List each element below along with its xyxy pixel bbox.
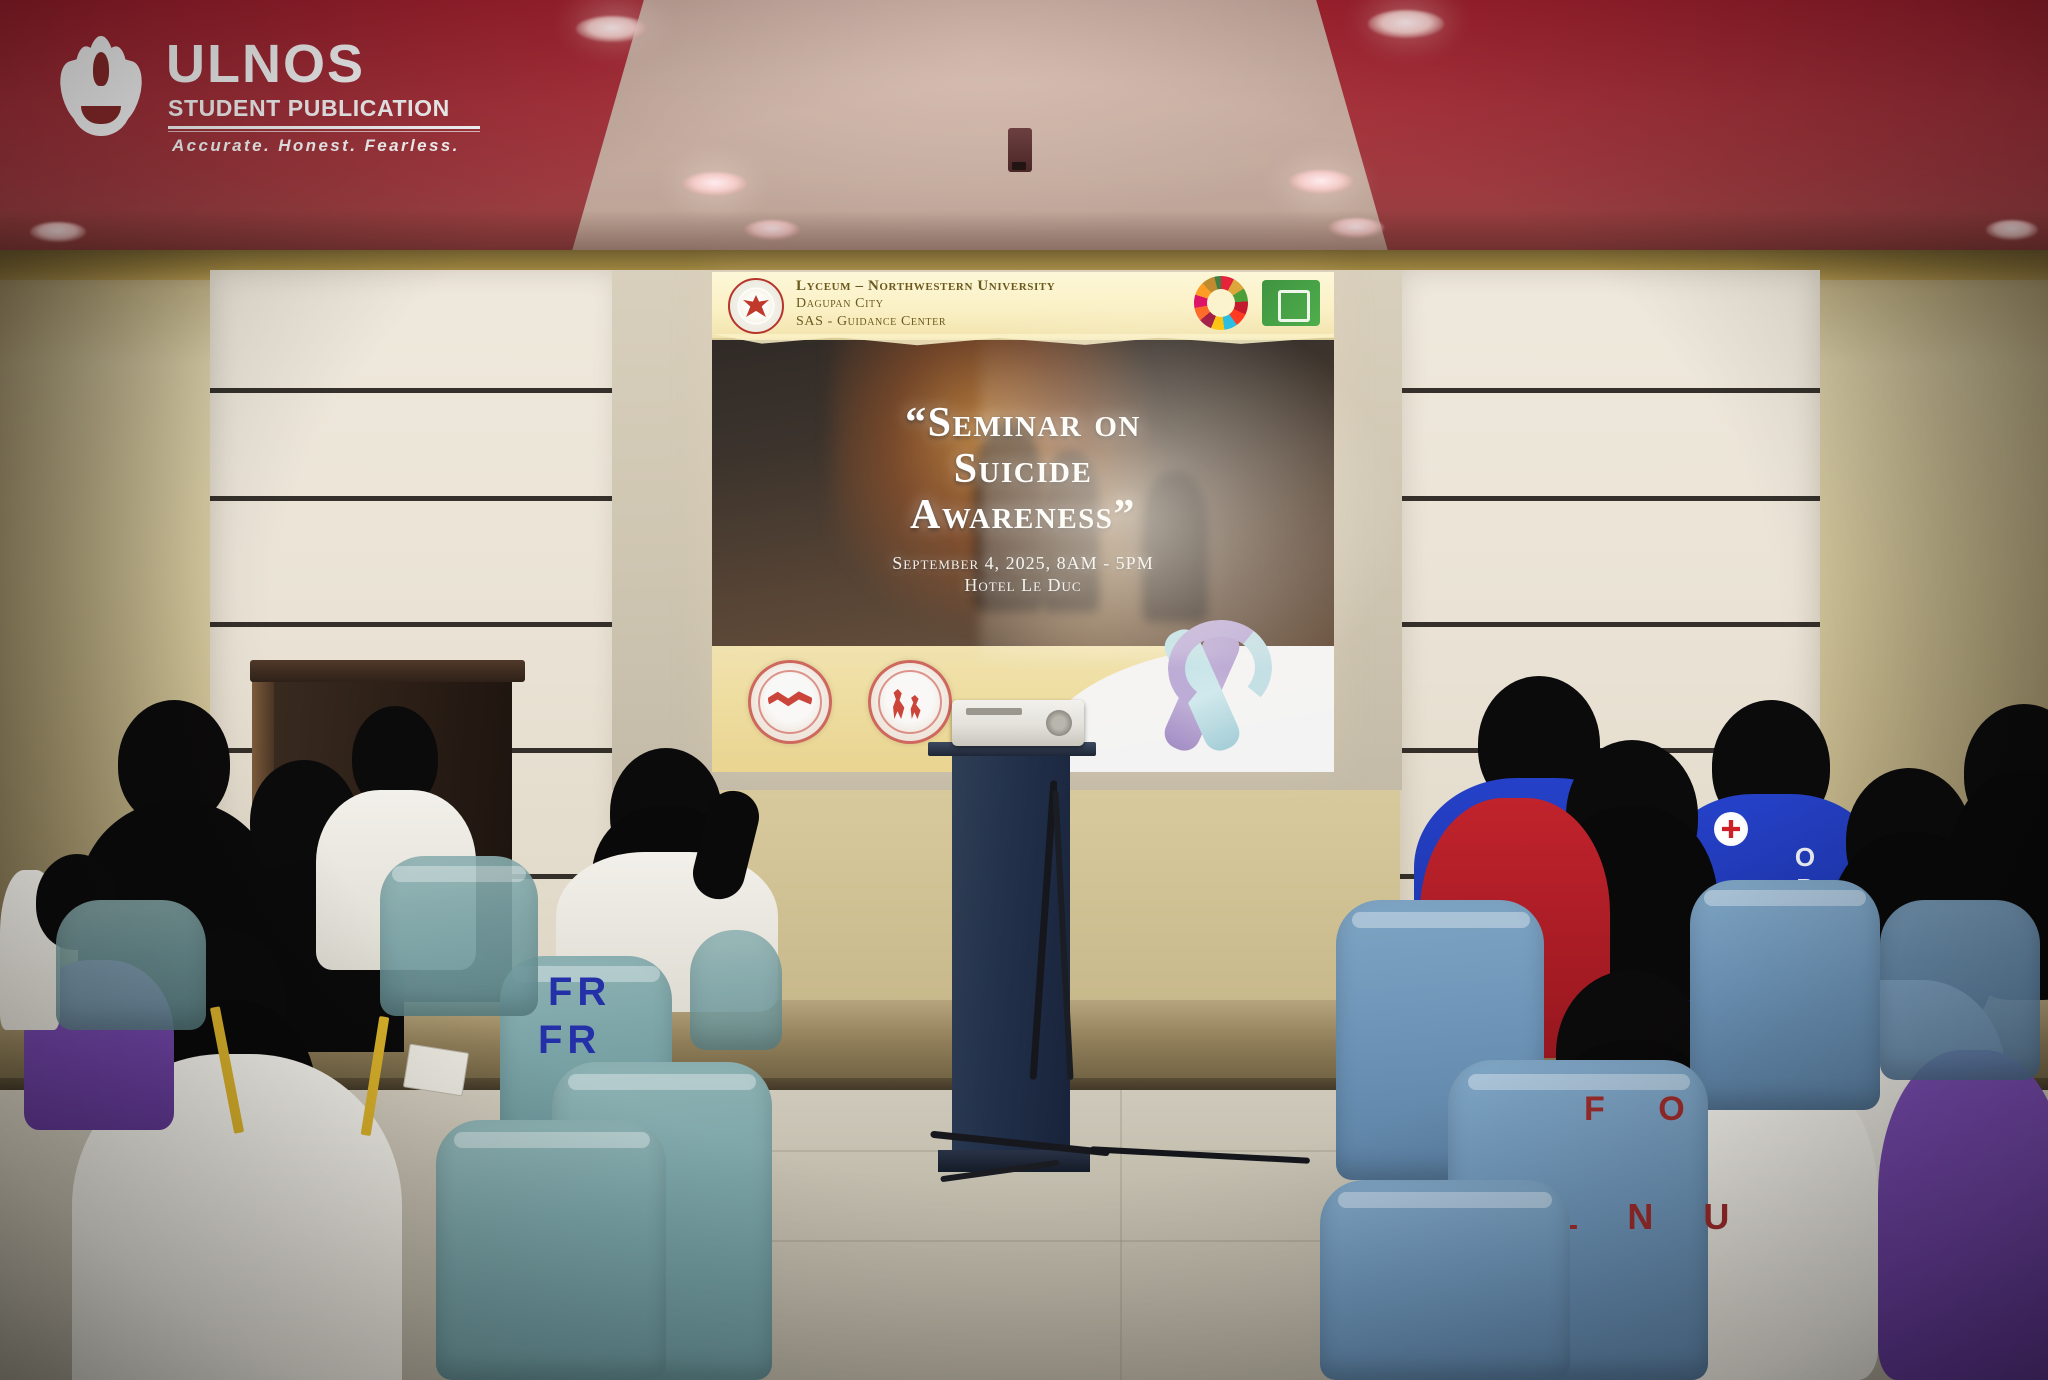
projector [952, 700, 1084, 746]
suicide-awareness-ribbon-icon [1132, 626, 1280, 756]
brand-divider [168, 126, 480, 129]
podium-top [250, 660, 525, 682]
runners-seal-icon [868, 660, 952, 744]
slide-title-line1: “Seminar on [738, 400, 1308, 446]
chair [1690, 880, 1880, 1110]
slide-header-line1: Lyceum – Northwestern University [796, 277, 1055, 295]
brand-divider [168, 131, 480, 132]
brand-tagline: Accurate. Honest. Fearless. [172, 136, 460, 156]
slide-subtitle-line2: Hotel Le Duc [712, 574, 1334, 596]
chair [436, 1120, 666, 1380]
chair-label: FR [548, 970, 611, 1015]
slide-subtitle-line1: September 4, 2025, 8AM - 5PM [712, 552, 1334, 574]
downlight-icon [1368, 10, 1444, 38]
panel-groove [1400, 496, 1820, 501]
panel-groove [1400, 388, 1820, 393]
chair-rim [454, 1132, 650, 1148]
sdg-wheel-icon [1194, 276, 1248, 330]
chair [56, 900, 206, 1030]
chair-rim [1704, 890, 1866, 906]
panel-groove [210, 388, 620, 393]
ulnos-watermark: ULNOS STUDENT PUBLICATION Accurate. Hone… [62, 30, 482, 156]
chair [380, 856, 538, 1016]
chair-rim [1338, 1192, 1552, 1208]
chair [1880, 900, 2040, 1080]
chair-rim [568, 1074, 756, 1090]
slide-subtitle: September 4, 2025, 8AM - 5PM Hotel Le Du… [712, 552, 1334, 596]
chair-label: L N U [1556, 1196, 1749, 1238]
floor-tile-line [1120, 1090, 1122, 1380]
slide-header-line3: SAS - Guidance Center [796, 313, 1055, 331]
chair-label: F O [1584, 1090, 1707, 1129]
slide-header-band: Lyceum – Northwestern University Dagupan… [712, 272, 1334, 340]
audience-body [1878, 1050, 2048, 1380]
downlight-icon [682, 172, 748, 196]
brand-subtitle: STUDENT PUBLICATION [168, 96, 450, 120]
chair-rim [1468, 1074, 1690, 1090]
downlight-icon [576, 16, 648, 42]
chair-rim [392, 866, 526, 882]
chair-rim [1352, 912, 1530, 928]
chair [1320, 1180, 1570, 1380]
lotus-logo-icon [62, 30, 140, 136]
slide-title-line2: Suicide [738, 446, 1308, 492]
red-cross-emblem-icon [1714, 812, 1748, 846]
id-card [403, 1044, 469, 1097]
brand-name: ULNOS [166, 36, 365, 92]
sdg-badge-icon [1262, 280, 1320, 326]
slide-header-text: Lyceum – Northwestern University Dagupan… [796, 277, 1055, 331]
screenshot-root: Lyceum – Northwestern University Dagupan… [0, 0, 2048, 1380]
handshake-seal-icon [748, 660, 832, 744]
smoke-detector-icon [1008, 128, 1032, 172]
slide-title: “Seminar on Suicide Awareness” [712, 400, 1334, 538]
chair [690, 930, 782, 1050]
chair-label: FR [538, 1018, 601, 1063]
panel-groove [210, 496, 620, 501]
downlight-icon [1288, 170, 1354, 194]
projected-slide: Lyceum – Northwestern University Dagupan… [712, 272, 1334, 772]
slide-header-line2: Dagupan City [796, 295, 1055, 313]
slide-title-line3: Awareness” [738, 492, 1308, 538]
panel-groove [1400, 622, 1820, 627]
panel-groove [210, 622, 620, 627]
lnu-seal-icon [728, 278, 784, 334]
